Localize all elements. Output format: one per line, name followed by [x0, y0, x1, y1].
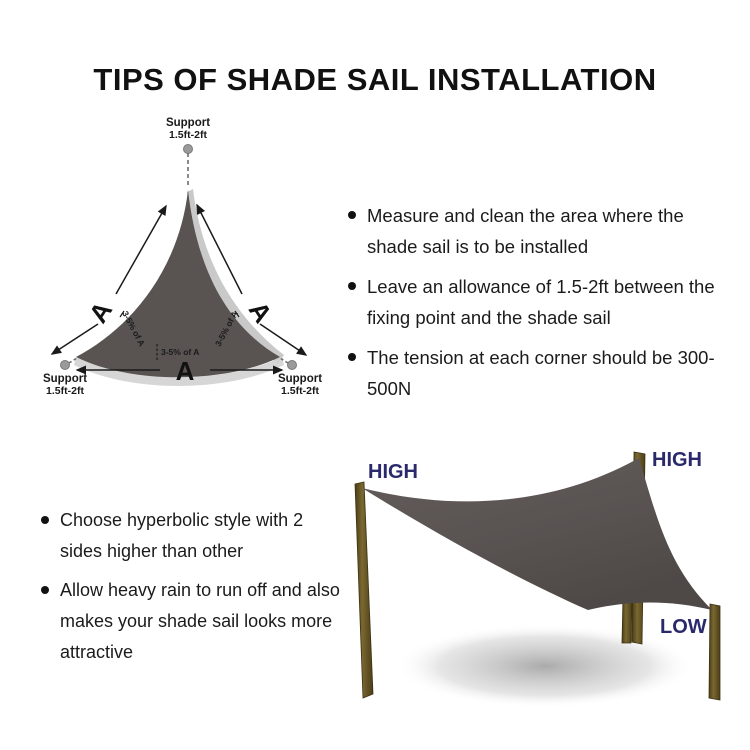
tip-item: Allow heavy rain to run off and also mak… — [40, 575, 345, 668]
support-anchor-bottom-right — [288, 361, 297, 370]
triangle-diagram-svg: Support 1.5ft-2ft Support 1.5ft-2ft Supp… — [20, 112, 360, 412]
support-bottom-left-name: Support — [43, 373, 87, 385]
tip-text: Allow heavy rain to run off and also mak… — [60, 580, 340, 662]
side-label-left: A — [83, 296, 119, 328]
support-top-dimension: 1.5ft-2ft — [169, 129, 207, 141]
support-bottom-right-name: Support — [278, 373, 322, 385]
tip-text: Choose hyperbolic style with 2 sides hig… — [60, 510, 303, 561]
support-top-name: Support — [166, 117, 210, 129]
bullet-dot-icon — [348, 282, 356, 290]
corner-label-right-high: HIGH — [652, 449, 702, 471]
corner-label-left-high: HIGH — [368, 461, 418, 483]
triangle-shade-sail-diagram: Support 1.5ft-2ft Support 1.5ft-2ft Supp… — [20, 112, 360, 412]
tips-list-left: Choose hyperbolic style with 2 sides hig… — [40, 505, 345, 676]
tip-text: The tension at each corner should be 300… — [367, 347, 715, 399]
bullet-dot-icon — [348, 353, 356, 361]
tip-item: Leave an allowance of 1.5-2ft between th… — [347, 271, 717, 333]
support-bottom-right-dimension: 1.5ft-2ft — [281, 385, 319, 397]
support-anchor-top — [184, 145, 193, 154]
tip-text: Leave an allowance of 1.5-2ft between th… — [367, 276, 715, 328]
page-title: TIPS OF SHADE SAIL INSTALLATION — [0, 62, 750, 98]
tip-item: Choose hyperbolic style with 2 sides hig… — [40, 505, 345, 567]
side-label-bottom: A — [176, 356, 195, 386]
support-anchor-bottom-left — [61, 361, 70, 370]
infographic-page: TIPS OF SHADE SAIL INSTALLATION Support … — [0, 0, 750, 750]
post-right-low — [709, 604, 720, 700]
curve-note-bottom: 3-5% of A — [161, 347, 199, 357]
post-left — [355, 482, 373, 698]
tip-item: Measure and clean the area where the sha… — [347, 200, 717, 262]
tip-text: Measure and clean the area where the sha… — [367, 205, 684, 257]
support-bottom-left-dimension: 1.5ft-2ft — [46, 385, 84, 397]
sail-diagram-svg: HIGH HIGH LOW — [340, 428, 740, 720]
bullet-dot-icon — [348, 211, 356, 219]
ground-shadow — [395, 624, 695, 708]
hyperbolic-sail-diagram: HIGH HIGH LOW — [340, 428, 740, 720]
tip-item: The tension at each corner should be 300… — [347, 342, 717, 404]
bullet-dot-icon — [41, 516, 49, 524]
tips-list-right: Measure and clean the area where the sha… — [347, 200, 717, 413]
corner-label-low: LOW — [660, 616, 707, 638]
bullet-dot-icon — [41, 586, 49, 594]
